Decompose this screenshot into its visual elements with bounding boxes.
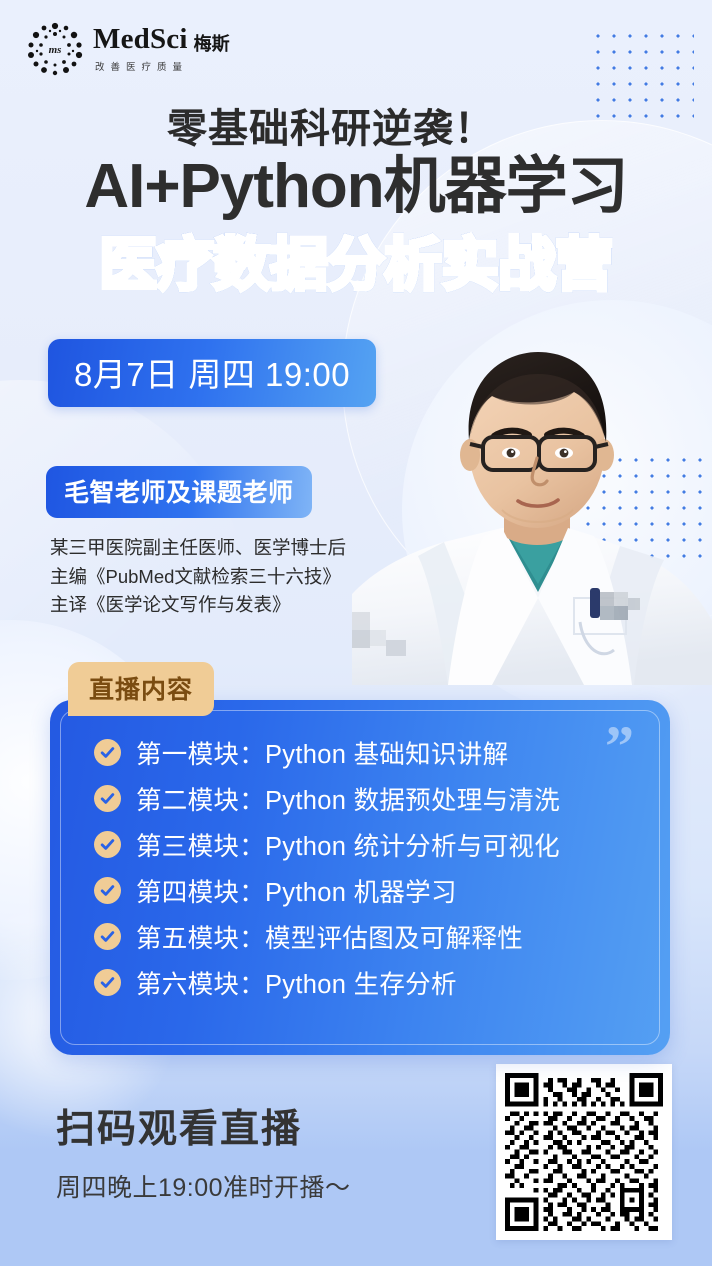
- content-card: ” 第一模块：Python 基础知识讲解 第二模块：Python 数据预处理与清…: [50, 700, 670, 1055]
- credential-line: 主编《PubMed文献检索三十六技》: [50, 563, 346, 592]
- list-item: 第四模块：Python 机器学习: [94, 872, 644, 909]
- credential-line: 主译《医学论文写作与发表》: [50, 591, 346, 620]
- list-item: 第五模块：模型评估图及可解释性: [94, 918, 644, 955]
- live-stream-qr-code[interactable]: [496, 1064, 672, 1240]
- list-item: 第一模块：Python 基础知识讲解: [94, 734, 644, 771]
- footer-title: 扫码观看直播: [56, 1098, 302, 1154]
- check-circle-icon: [94, 969, 121, 996]
- module-label: 第五模块：模型评估图及可解释性: [136, 918, 523, 955]
- module-list: 第一模块：Python 基础知识讲解 第二模块：Python 数据预处理与清洗 …: [94, 734, 644, 1001]
- medsci-dot-circle-logo-icon: ms: [26, 20, 84, 78]
- brand-logo: ms MedSci 梅斯 改善医疗质量: [26, 20, 230, 78]
- brand-name-en: MedSci: [93, 25, 188, 54]
- module-label: 第四模块：Python 机器学习: [136, 872, 457, 909]
- list-item: 第三模块：Python 统计分析与可视化: [94, 826, 644, 863]
- list-item: 第六模块：Python 生存分析: [94, 964, 644, 1001]
- content-section-badge: 直播内容: [68, 662, 214, 716]
- promo-poster: ms MedSci 梅斯 改善医疗质量 零基础科研逆袭！ AI+Python机器…: [0, 0, 712, 1266]
- module-label: 第一模块：Python 基础知识讲解: [136, 734, 508, 771]
- module-label: 第二模块：Python 数据预处理与清洗: [136, 780, 560, 817]
- module-label: 第六模块：Python 生存分析: [136, 964, 457, 1001]
- schedule-badge: 8月7日 周四 19:00: [48, 339, 376, 407]
- check-circle-icon: [94, 877, 121, 904]
- list-item: 第二模块：Python 数据预处理与清洗: [94, 780, 644, 817]
- svg-text:ms: ms: [49, 44, 62, 56]
- brand-logo-text: MedSci 梅斯 改善医疗质量: [93, 25, 230, 73]
- footer-subtitle: 周四晚上19:00准时开播～: [56, 1168, 351, 1204]
- brand-name-cn: 梅斯: [194, 35, 230, 54]
- headline-line-2: AI+Python机器学习: [0, 152, 712, 221]
- brand-tagline: 改善医疗质量: [93, 59, 230, 73]
- speaker-name-badge: 毛智老师及课题老师: [46, 466, 312, 518]
- speaker-credentials: 某三甲医院副主任医师、医学博士后 主编《PubMed文献检索三十六技》 主译《医…: [50, 534, 346, 620]
- check-circle-icon: [94, 739, 121, 766]
- check-circle-icon: [94, 923, 121, 950]
- check-circle-icon: [94, 785, 121, 812]
- speaker-photo: [352, 330, 712, 685]
- headline-line-3: 医疗数据分析实战营: [0, 232, 712, 299]
- headline-line-1: 零基础科研逆袭！: [0, 96, 712, 154]
- credential-line: 某三甲医院副主任医师、医学博士后: [50, 534, 346, 563]
- module-label: 第三模块：Python 统计分析与可视化: [136, 826, 560, 863]
- check-circle-icon: [94, 831, 121, 858]
